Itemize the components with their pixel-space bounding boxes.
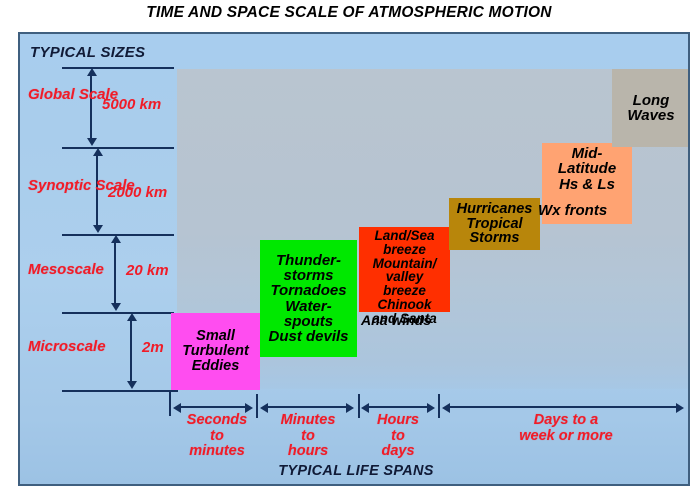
size-value-global: 5000 km bbox=[102, 96, 161, 113]
lifespan-minutes-line-1: Minutes bbox=[268, 413, 348, 429]
hurricanes-line-3: Storms bbox=[470, 231, 520, 246]
storms-line-3: Tornadoes bbox=[270, 283, 346, 298]
lifespan-tick-4 bbox=[438, 394, 440, 418]
scale-divider-bottom bbox=[62, 390, 178, 392]
lifespan-hours-line-3: days bbox=[362, 444, 434, 460]
storms-line-5: spouts bbox=[284, 314, 333, 329]
local-winds-line-5: breeze bbox=[383, 284, 426, 298]
lifespan-days-line-2: week or more bbox=[486, 429, 646, 445]
size-value-synoptic: 2000 km bbox=[108, 184, 167, 201]
eddies-line-2: Turbulent bbox=[182, 344, 249, 359]
lifespan-label-hours: Hours to days bbox=[362, 413, 434, 460]
midlat-line-2: Latitude bbox=[558, 161, 616, 176]
lifespan-hours-line-2: to bbox=[362, 429, 434, 445]
phenomenon-box-small-turbulent-eddies: Small Turbulent Eddies bbox=[171, 313, 260, 390]
storms-line-4: Water- bbox=[285, 299, 331, 314]
local-winds-line-1: Land/Sea bbox=[374, 229, 434, 243]
lifespan-minutes-line-3: hours bbox=[268, 444, 348, 460]
storms-line-6: Dust devils bbox=[268, 329, 348, 344]
size-arrow-mesoscale bbox=[114, 242, 116, 304]
size-value-mesoscale: 20 km bbox=[126, 262, 169, 279]
lifespan-label-minutes: Minutes to hours bbox=[268, 413, 348, 460]
typical-sizes-header: TYPICAL SIZES bbox=[30, 44, 145, 61]
lifespan-hours-line-1: Hours bbox=[362, 413, 434, 429]
lifespan-minutes-line-2: to bbox=[268, 429, 348, 445]
local-winds-overflow-text: Ana winds bbox=[361, 312, 431, 328]
diagram-frame: TYPICAL SIZES Global Scale Synoptic Scal… bbox=[18, 32, 690, 486]
longwaves-line-1: Long bbox=[633, 93, 670, 108]
scale-divider-top bbox=[62, 67, 174, 69]
midlat-overflow-text: Wx fronts bbox=[538, 202, 607, 219]
phenomenon-box-local-winds: Land/Sea breeze Mountain/ valley breeze … bbox=[359, 227, 450, 312]
lifespan-arrow-minutes bbox=[267, 406, 347, 408]
lifespan-label-seconds: Seconds to minutes bbox=[177, 413, 257, 460]
midlat-line-3: Hs & Ls bbox=[559, 177, 615, 192]
scale-divider-meso-micro bbox=[62, 312, 174, 314]
hurricanes-line-2: Tropical bbox=[466, 217, 522, 232]
size-arrow-global bbox=[90, 75, 92, 139]
storms-line-2: storms bbox=[283, 268, 333, 283]
local-winds-line-2: breeze bbox=[383, 243, 426, 257]
longwaves-line-2: Waves bbox=[627, 108, 674, 123]
size-arrow-microscale bbox=[130, 320, 132, 382]
lifespan-arrow-hours bbox=[368, 406, 428, 408]
local-winds-line-6: Chinook bbox=[378, 298, 432, 312]
lifespan-tick-3 bbox=[358, 394, 360, 418]
typical-life-spans-caption: TYPICAL LIFE SPANS bbox=[20, 463, 690, 479]
lifespan-seconds-line-3: minutes bbox=[177, 444, 257, 460]
local-winds-line-3: Mountain/ bbox=[373, 257, 437, 271]
lifespan-days-line-1: Days to a bbox=[486, 413, 646, 429]
lifespan-seconds-line-1: Seconds bbox=[177, 413, 257, 429]
lifespan-arrow-days bbox=[449, 406, 677, 408]
scale-label-mesoscale: Mesoscale bbox=[28, 262, 104, 278]
lifespan-arrow-seconds bbox=[180, 406, 246, 408]
lifespan-tick-1 bbox=[169, 390, 171, 416]
diagram-title: TIME AND SPACE SCALE OF ATMOSPHERIC MOTI… bbox=[0, 4, 698, 22]
phenomenon-box-hurricanes: Hurricanes Tropical Storms bbox=[449, 198, 540, 250]
local-winds-line-4: valley bbox=[386, 270, 424, 284]
scale-divider-global-synoptic bbox=[62, 147, 174, 149]
lifespan-label-days: Days to a week or more bbox=[486, 413, 646, 444]
size-value-microscale: 2m bbox=[142, 339, 164, 356]
midlat-line-1: Mid- bbox=[572, 146, 603, 161]
phenomenon-box-long-waves: Long Waves bbox=[612, 69, 690, 147]
hurricanes-line-1: Hurricanes bbox=[457, 202, 533, 217]
eddies-line-3: Eddies bbox=[192, 359, 240, 374]
phenomenon-box-thunderstorms: Thunder- storms Tornadoes Water- spouts … bbox=[260, 240, 357, 357]
storms-line-1: Thunder- bbox=[276, 253, 341, 268]
scale-label-microscale: Microscale bbox=[28, 339, 106, 355]
eddies-line-1: Small bbox=[196, 329, 235, 344]
lifespan-seconds-line-2: to bbox=[177, 429, 257, 445]
